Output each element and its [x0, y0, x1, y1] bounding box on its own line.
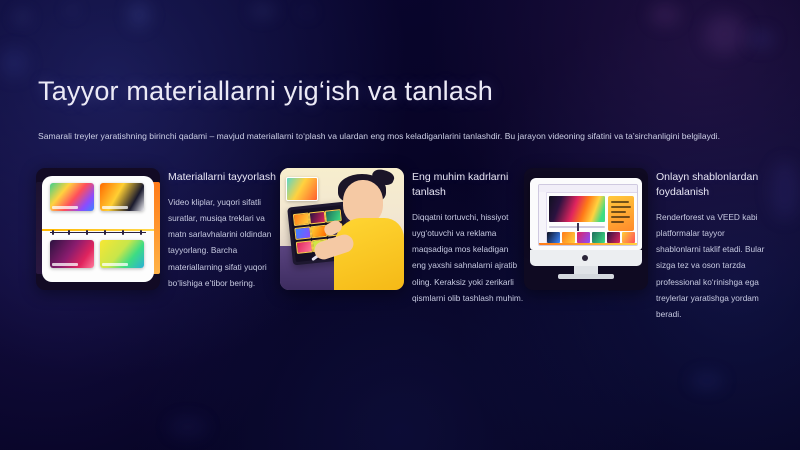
monitor-stand-base — [558, 274, 614, 279]
gallery-tile-caption — [102, 206, 128, 209]
slide-content: Tayyor materiallarni yig‘ish va tanlash … — [0, 0, 800, 450]
column-1-text: Materiallarni tayyorlash Video kliplar, … — [160, 168, 280, 291]
column-key-frames: Eng muhim kadrlarni tanlash Diqqatni tor… — [280, 168, 524, 322]
column-1-thumbnail — [36, 168, 160, 290]
frame-thumbnail — [293, 212, 310, 226]
column-3-text: Onlayn shablonlardan foydalanish Renderf… — [648, 168, 768, 322]
gallery-tile — [50, 240, 94, 268]
gallery-panel — [42, 176, 154, 282]
panel-line — [611, 206, 631, 208]
gallery-tile — [100, 183, 144, 211]
person-selecting-frames-illustration — [280, 168, 404, 290]
column-2-body: Diqqatni tortuvchi, hissiyot uyg‘otuvchi… — [412, 209, 524, 306]
slide-subtitle: Samarali treyler yaratishning birinchi q… — [38, 128, 768, 145]
column-2-thumbnail — [280, 168, 404, 290]
editor-side-panel — [608, 196, 634, 231]
frame-thumbnail — [296, 240, 313, 254]
frame-thumbnail — [309, 211, 326, 225]
ruler-tick — [68, 230, 70, 235]
columns-row: Materiallarni tayyorlash Video kliplar, … — [36, 168, 770, 322]
wall-poster — [286, 177, 318, 201]
slide-root: Tayyor materiallarni yig‘ish va tanlash … — [0, 0, 800, 450]
gallery-ruler — [50, 232, 146, 233]
filmstrip-frame — [592, 232, 605, 243]
column-2-title: Eng muhim kadrlarni tanlash — [412, 170, 524, 200]
column-3-body: Renderforest va VEED kabi platformalar t… — [656, 209, 768, 322]
gallery-accent-bar — [42, 229, 154, 231]
panel-line — [611, 221, 624, 223]
template-gallery-illustration — [36, 168, 160, 290]
filmstrip-frame — [547, 232, 560, 243]
column-2-text: Eng muhim kadrlarni tanlash Diqqatni tor… — [404, 168, 524, 306]
filmstrip-frame — [607, 232, 620, 243]
editor-toolbar — [539, 185, 637, 193]
editor-accent-bar — [539, 243, 637, 245]
filmstrip-frame — [562, 232, 575, 243]
ruler-tick — [52, 230, 54, 235]
gallery-tile-caption — [102, 263, 128, 266]
column-1-title: Materiallarni tayyorlash — [168, 170, 280, 185]
column-online-templates: Onlayn shablonlardan foydalanish Renderf… — [524, 168, 768, 322]
panel-line — [611, 201, 629, 203]
column-3-thumbnail — [524, 168, 648, 290]
column-3-title: Onlayn shablonlardan foydalanish — [656, 170, 768, 200]
ruler-tick — [122, 230, 124, 235]
ruler-tick — [140, 230, 142, 235]
editor-preview — [549, 196, 605, 222]
gallery-tile-caption — [52, 263, 78, 266]
page-title: Tayyor materiallarni yig‘ish va tanlash — [38, 76, 493, 107]
desktop-template-editor-illustration — [524, 168, 648, 290]
editor-left-rail — [539, 192, 547, 245]
filmstrip-frame — [622, 232, 635, 243]
panel-line — [611, 211, 626, 213]
gallery-tile-caption — [52, 206, 78, 209]
ruler-tick — [104, 230, 106, 235]
column-1-body: Video kliplar, yuqori sifatli suratlar, … — [168, 194, 280, 291]
monitor-logo-dot — [582, 255, 588, 261]
gallery-tile — [50, 183, 94, 211]
frame-thumbnail — [294, 226, 311, 240]
column-materials-prep: Materiallarni tayyorlash Video kliplar, … — [36, 168, 280, 322]
editor-filmstrip — [547, 232, 635, 243]
editor-playhead — [577, 223, 579, 231]
editor-window — [538, 184, 638, 246]
gallery-tile — [100, 240, 144, 268]
person-torso — [334, 218, 404, 290]
ruler-tick — [86, 230, 88, 235]
filmstrip-frame — [577, 232, 590, 243]
panel-line — [611, 216, 630, 218]
